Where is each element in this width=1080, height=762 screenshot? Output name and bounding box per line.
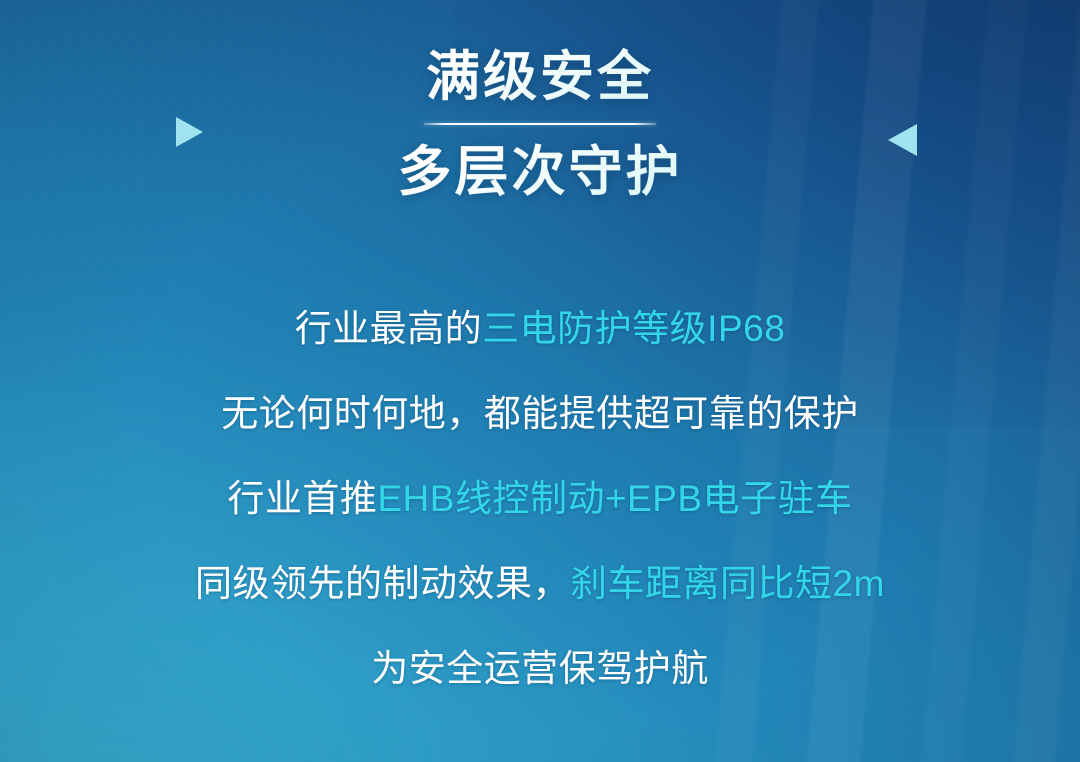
body-text-plain: 行业最高的 xyxy=(295,308,483,349)
headline-secondary: 多层次守护 xyxy=(0,143,1080,201)
body-line: 无论何时何地，都能提供超可靠的保护 xyxy=(0,395,1080,432)
body-line: 为安全运营保驾护航 xyxy=(0,650,1080,687)
heading-block: 满级安全 多层次守护 xyxy=(0,48,1080,202)
slide-content: 满级安全 多层次守护 行业最高的三电防护等级IP68无论何时何地，都能提供超可靠… xyxy=(0,0,1080,762)
body-line: 行业最高的三电防护等级IP68 xyxy=(0,310,1080,347)
body-text-highlight: 三电防护等级IP68 xyxy=(482,308,785,349)
body-text-highlight: EHB线控制动+EPB电子驻车 xyxy=(377,478,852,519)
body-text-plain: 同级领先的制动效果， xyxy=(195,563,570,604)
body-copy-block: 行业最高的三电防护等级IP68无论何时何地，都能提供超可靠的保护行业首推EHB线… xyxy=(0,310,1080,687)
headline-primary: 满级安全 xyxy=(0,48,1080,106)
body-text-plain: 无论何时何地，都能提供超可靠的保护 xyxy=(221,393,859,434)
body-text-highlight: 刹车距离同比短2m xyxy=(570,563,885,604)
body-text-plain: 行业首推 xyxy=(227,478,377,519)
promo-slide: 满级安全 多层次守护 行业最高的三电防护等级IP68无论何时何地，都能提供超可靠… xyxy=(0,0,1080,762)
body-text-plain: 为安全运营保驾护航 xyxy=(371,648,709,689)
body-line: 行业首推EHB线控制动+EPB电子驻车 xyxy=(0,480,1080,517)
body-line: 同级领先的制动效果，刹车距离同比短2m xyxy=(0,565,1080,602)
title-divider xyxy=(424,123,656,125)
